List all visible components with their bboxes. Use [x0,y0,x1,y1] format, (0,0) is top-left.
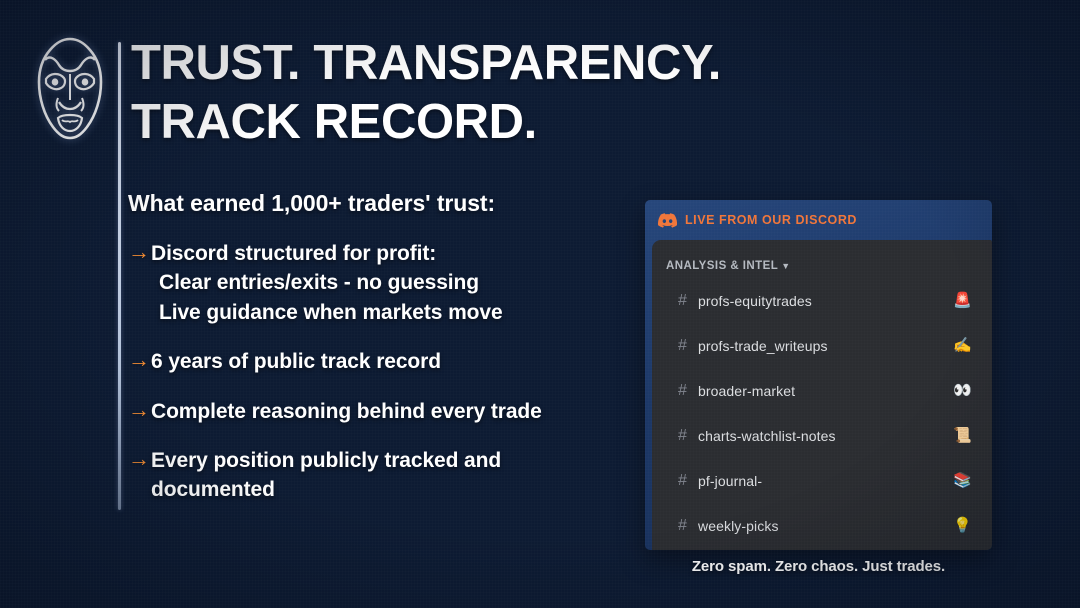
discord-icon [658,213,677,228]
channel-item-broader-market[interactable]: # broader-market 👀 [652,368,992,413]
channel-name: profs-trade_writeups [698,338,953,354]
hash-icon: # [678,517,698,535]
channel-item-profs-equitytrades[interactable]: # profs-equitytrades 🚨 [652,278,992,323]
channel-category-header[interactable]: ANALYSIS & INTEL▼ [652,240,992,278]
list-item: → Discord structured for profit: Clear e… [128,239,648,327]
channel-name: pf-journal- [698,473,953,489]
list-item: → Complete reasoning behind every trade [128,397,648,426]
channel-name: weekly-picks [698,518,953,534]
bullet-text: 6 years of public track record [151,347,441,376]
title-line-2: TRACK RECORD. [131,93,891,152]
dali-mask-logo [28,36,112,141]
list-item: → 6 years of public track record [128,347,648,376]
channel-name: charts-watchlist-notes [698,428,953,444]
arrow-right-icon: → [128,397,150,424]
subheading: What earned 1,000+ traders' trust: [128,190,648,217]
hash-icon: # [678,292,698,310]
bullet-text: Every position publicly tracked and [151,449,501,472]
books-emoji: 📚 [953,473,972,488]
benefits-column: What earned 1,000+ traders' trust: → Dis… [128,190,648,525]
chevron-down-icon: ▼ [781,261,790,271]
title-divider-rule [118,42,121,510]
discord-card-header: LIVE FROM OUR DISCORD [645,200,992,240]
title-line-1: TRUST. TRANSPARENCY. [131,34,891,93]
arrow-right-icon: → [128,239,150,266]
bullet-text: Complete reasoning behind every trade [151,397,542,426]
discord-caption: Zero spam. Zero chaos. Just trades. [645,558,992,575]
bullet-continuation: documented [151,475,501,504]
bullet-text: Discord structured for profit: [151,242,436,265]
channel-name: profs-equitytrades [698,293,953,309]
discord-preview-card: LIVE FROM OUR DISCORD ANALYSIS & INTEL▼ … [645,200,992,550]
discord-header-label: LIVE FROM OUR DISCORD [685,213,857,227]
channel-item-weekly-picks[interactable]: # weekly-picks 💡 [652,503,992,548]
arrow-right-icon: → [128,446,150,473]
rotating-light-emoji: 🚨 [953,293,972,308]
hash-icon: # [678,472,698,490]
bullet-text-group: Discord structured for profit: Clear ent… [151,239,503,327]
channel-item-pf-journal[interactable]: # pf-journal- 📚 [652,458,992,503]
channel-name: broader-market [698,383,953,399]
slide-canvas: TRUST. TRANSPARENCY. TRACK RECORD. What … [0,0,1080,608]
writing-hand-emoji: ✍️ [953,338,972,353]
channel-item-charts-watchlist-notes[interactable]: # charts-watchlist-notes 📜 [652,413,992,458]
eyes-emoji: 👀 [953,383,972,398]
bullet-text-group: Every position publicly tracked and docu… [151,446,501,505]
arrow-right-icon: → [128,347,150,374]
hash-icon: # [678,427,698,445]
hash-icon: # [678,337,698,355]
bullet-subline-2: Live guidance when markets move [151,298,503,327]
light-bulb-emoji: 💡 [953,518,972,533]
channel-item-profs-trade-writeups[interactable]: # profs-trade_writeups ✍️ [652,323,992,368]
discord-channel-panel: ANALYSIS & INTEL▼ # profs-equitytrades 🚨… [652,240,992,550]
bullet-subline-1: Clear entries/exits - no guessing [151,268,503,297]
scroll-emoji: 📜 [953,428,972,443]
list-item: → Every position publicly tracked and do… [128,446,648,505]
hash-icon: # [678,382,698,400]
page-title: TRUST. TRANSPARENCY. TRACK RECORD. [131,34,891,153]
channel-category-label: ANALYSIS & INTEL [666,260,778,272]
